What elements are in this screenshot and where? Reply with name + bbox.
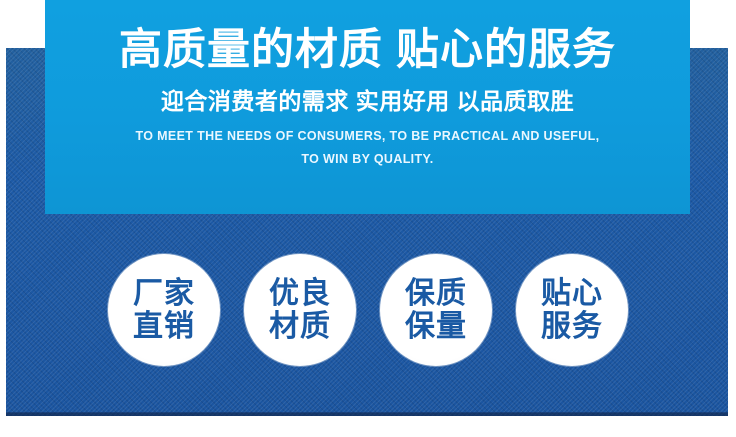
feature-badge-list: 厂家 直销 优良 材质 保质 保量 贴心 服务 (0, 252, 736, 368)
feature-badge-line-2: 服务 (541, 310, 603, 343)
feature-badge-attentive-service: 贴心 服务 (516, 254, 628, 366)
feature-badge-line-2: 直销 (133, 310, 195, 343)
feature-badge-guaranteed-quality: 保质 保量 (380, 254, 492, 366)
headline-panel: 高质量的材质 贴心的服务 迎合消费者的需求 实用好用 以品质取胜 TO MEET… (45, 0, 690, 214)
feature-badge-line-2: 保量 (405, 310, 467, 343)
promo-banner-stage: 高质量的材质 贴心的服务 迎合消费者的需求 实用好用 以品质取胜 TO MEET… (0, 0, 736, 437)
page-title: 高质量的材质 贴心的服务 (45, 0, 690, 76)
feature-badge-line-1: 优良 (269, 277, 331, 310)
feature-badge-factory-direct: 厂家 直销 (108, 254, 220, 366)
headline-panel-content: 高质量的材质 贴心的服务 迎合消费者的需求 实用好用 以品质取胜 TO MEET… (45, 0, 690, 214)
english-tagline-line-1: TO MEET THE NEEDS OF CONSUMERS, TO BE PR… (45, 116, 690, 148)
feature-badge-line-2: 材质 (269, 310, 331, 343)
english-tagline-line-2: TO WIN BY QUALITY. (45, 148, 690, 171)
feature-badge-line-1: 贴心 (541, 277, 603, 310)
page-subtitle: 迎合消费者的需求 实用好用 以品质取胜 (45, 76, 690, 116)
feature-badge-quality-material: 优良 材质 (244, 254, 356, 366)
feature-badge-line-1: 保质 (405, 277, 467, 310)
feature-badge-line-1: 厂家 (133, 277, 195, 310)
